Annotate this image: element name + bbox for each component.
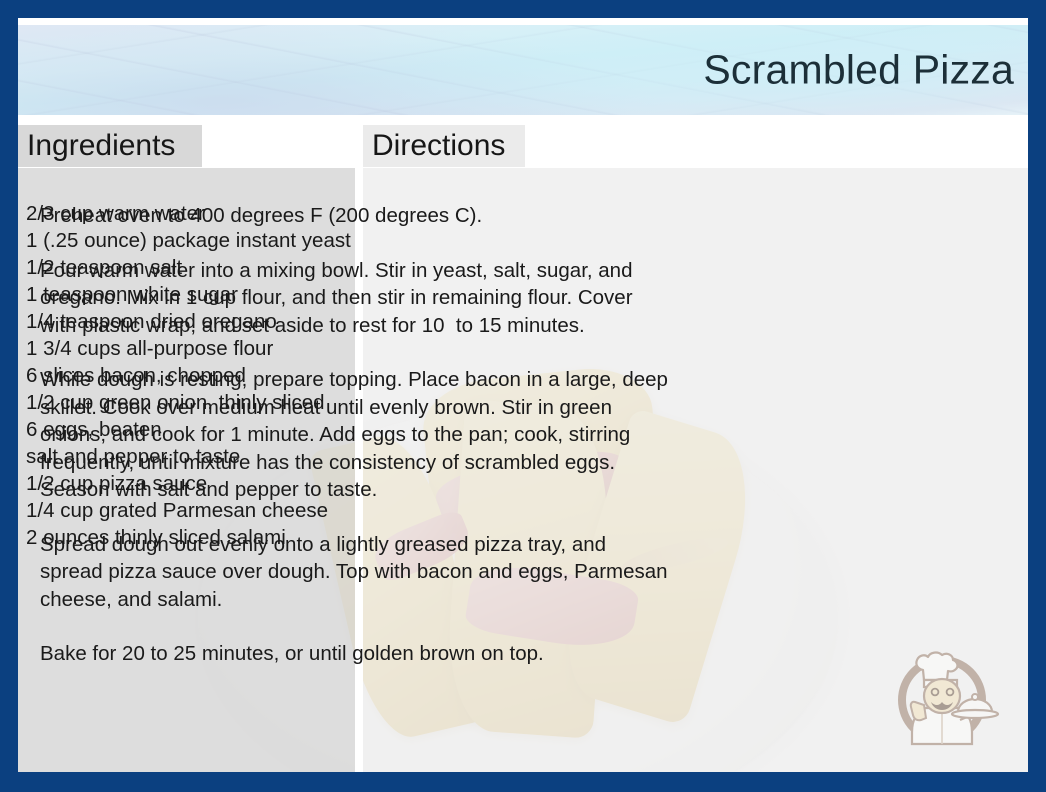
directions-heading-label: Directions — [372, 129, 505, 163]
directions-heading: Directions — [363, 125, 525, 167]
direction-step: Bake for 20 to 25 minutes, or until gold… — [40, 640, 668, 668]
page-title: Scrambled Pizza — [703, 50, 1014, 91]
direction-step: While dough is resting, prepare topping.… — [40, 366, 668, 504]
directions-list: Preheat oven to 400 degrees F (200 degre… — [40, 202, 668, 668]
direction-step: Preheat oven to 400 degrees F (200 degre… — [40, 202, 668, 230]
direction-step: Pour warm water into a mixing bowl. Stir… — [40, 257, 668, 340]
recipe-card: Scrambled Pizza Ingredients Directions 2… — [0, 0, 1046, 792]
direction-step: Spread dough out evenly onto a lightly g… — [40, 531, 668, 614]
chef-mascot-logo — [882, 636, 1002, 756]
header-banner: Scrambled Pizza — [18, 25, 1028, 115]
ingredients-heading: Ingredients — [18, 125, 202, 167]
ingredients-heading-label: Ingredients — [27, 129, 175, 163]
card-inner-mat: Scrambled Pizza Ingredients Directions 2… — [18, 18, 1028, 772]
